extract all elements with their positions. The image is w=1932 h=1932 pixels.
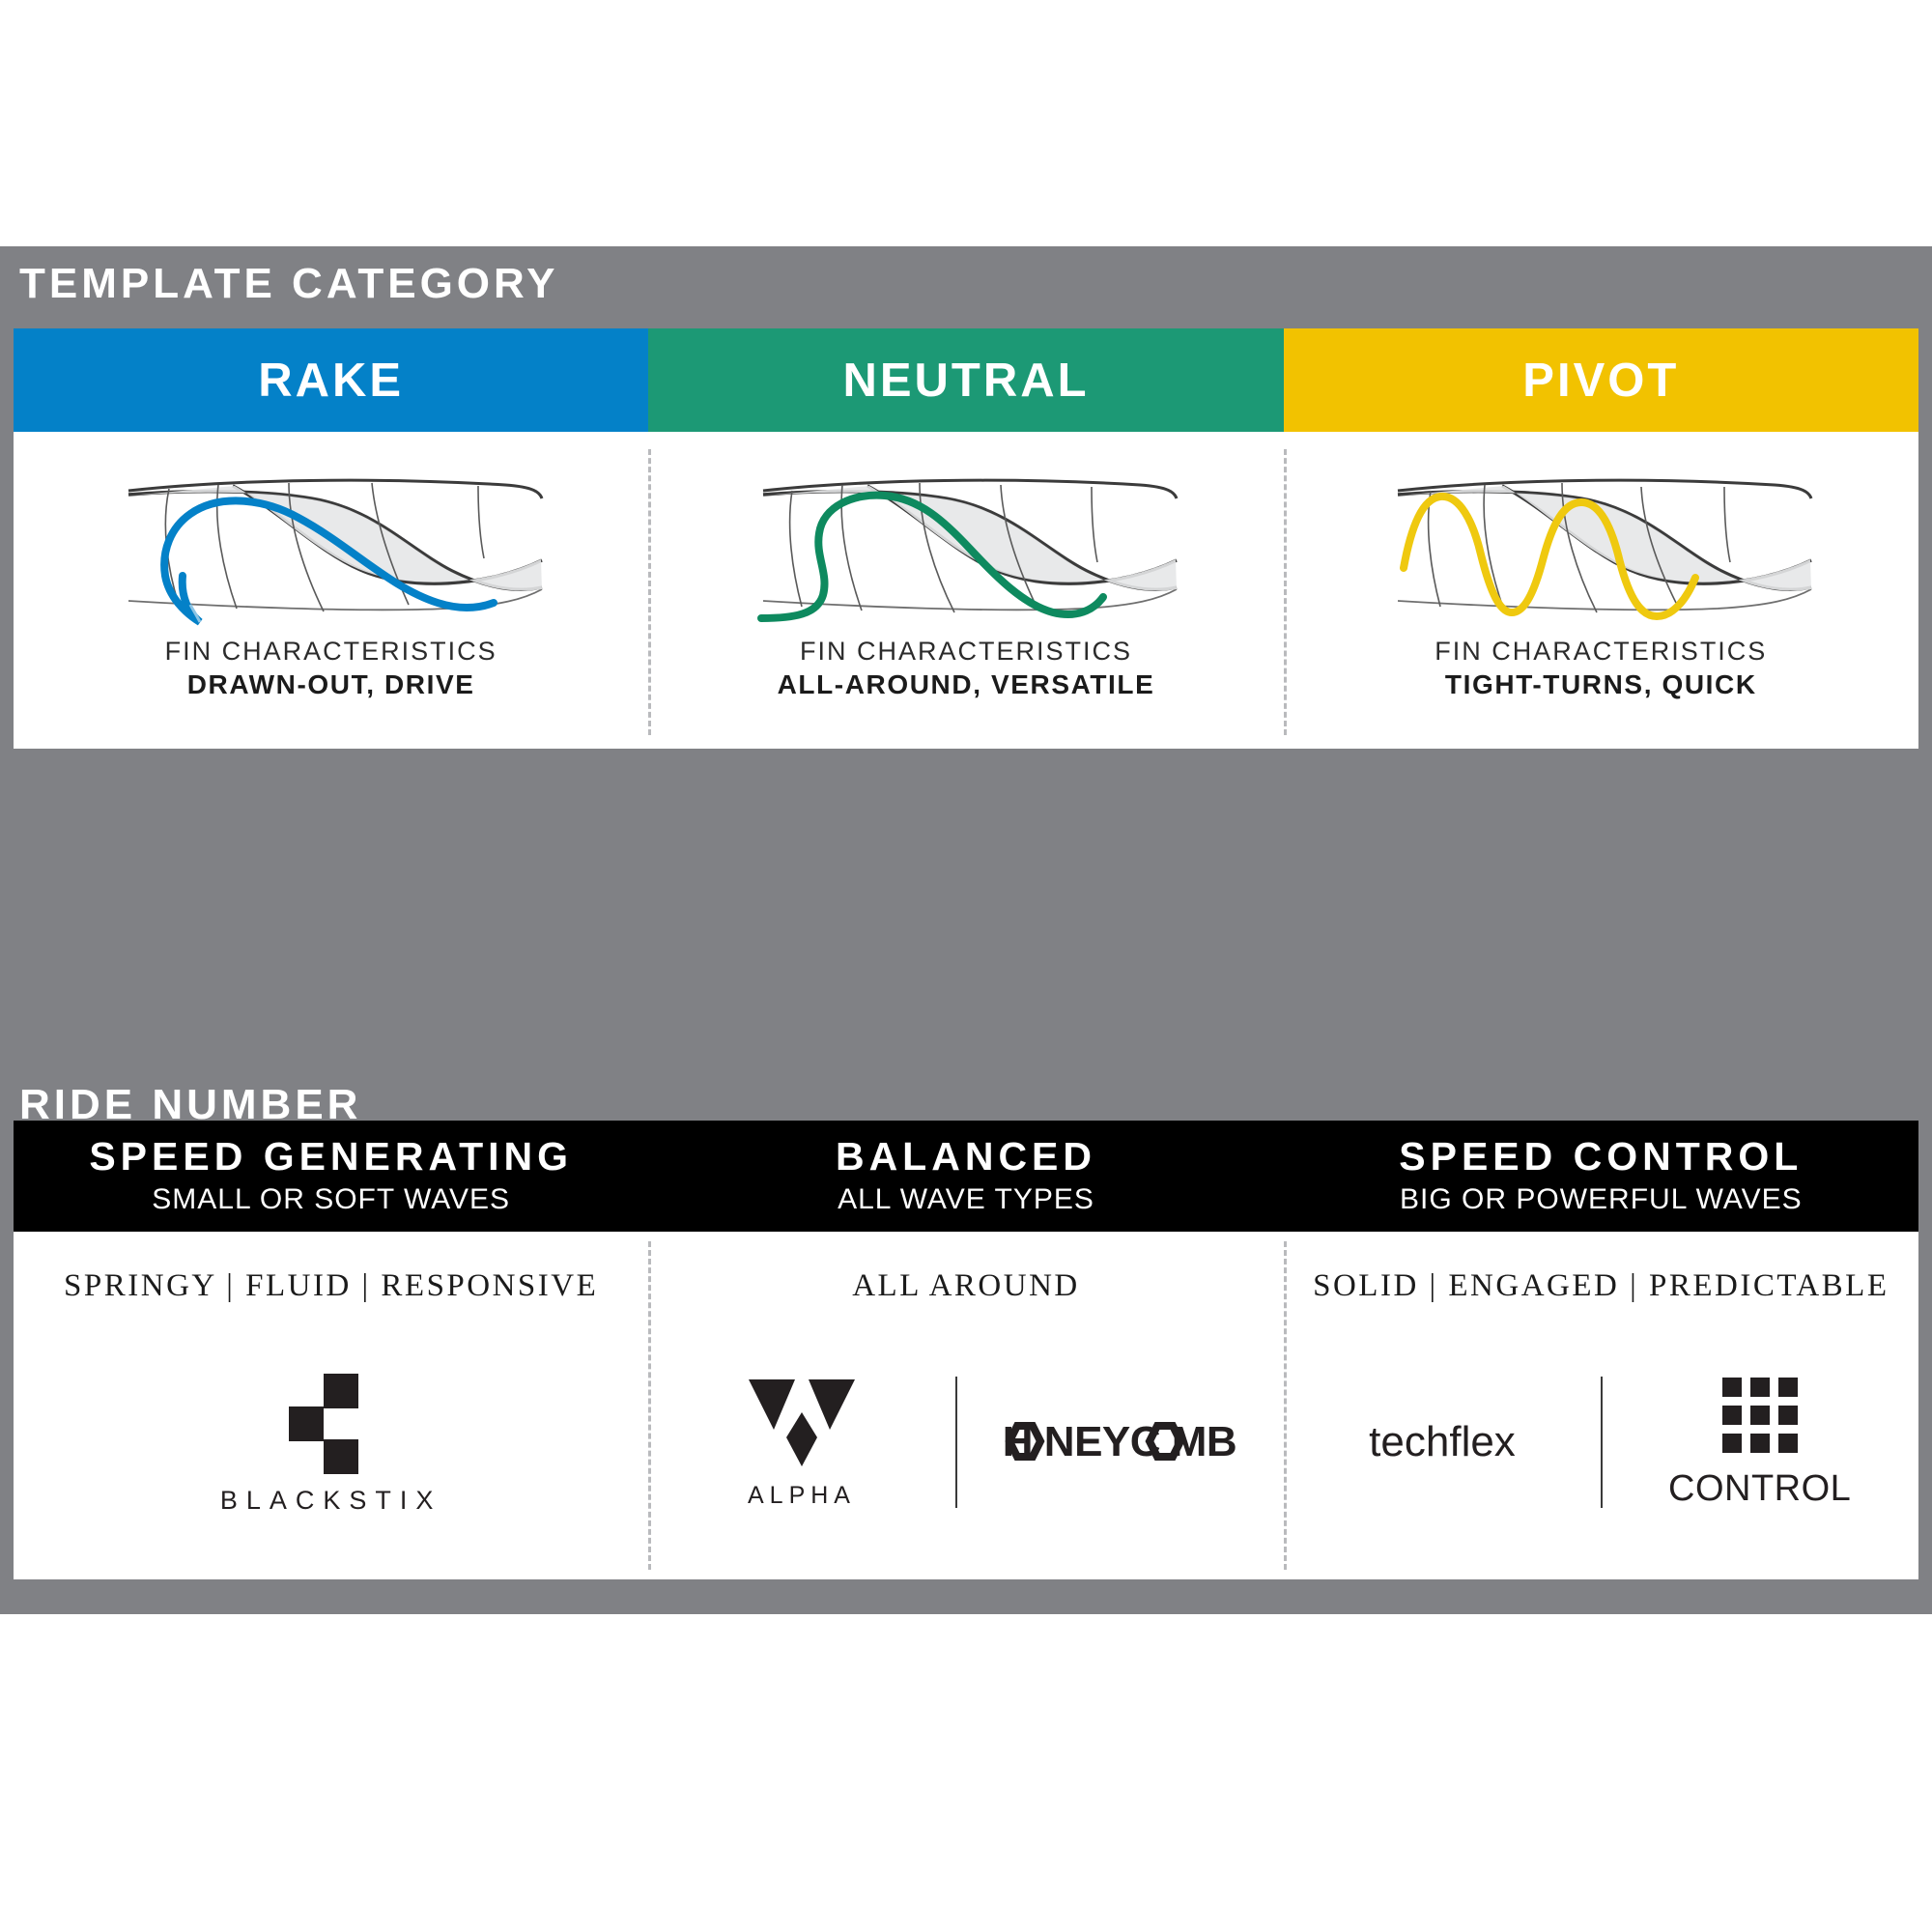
template-header-rake-label: RAKE	[258, 354, 404, 408]
ride-column-speed-generating: SPRINGY | FLUID | RESPONSIVE BLACKSTIX	[14, 1232, 648, 1579]
neutral-fin-characteristics-label: FIN CHARACTERISTICS	[778, 637, 1155, 667]
ride-number-card: SPEED GENERATING SMALL OR SOFT WAVES BAL…	[14, 1121, 1918, 1579]
neutral-fin-caption: FIN CHARACTERISTICS ALL-AROUND, VERSATIL…	[778, 637, 1155, 700]
rake-fin-diagram	[14, 438, 648, 631]
page-title-template-category: TEMPLATE CATEGORY	[19, 263, 559, 305]
logo-alpha-wordmark: ALPHA	[748, 1482, 856, 1510]
template-category-card: RAKE NEUTRAL PIVOT	[14, 328, 1918, 749]
logo-alpha[interactable]: ALPHA	[648, 1365, 954, 1520]
rake-fin-caption: FIN CHARACTERISTICS DRAWN-OUT, DRIVE	[165, 637, 497, 700]
ride-logos-speed-generating: BLACKSTIX	[14, 1304, 648, 1579]
template-column-rake: FIN CHARACTERISTICS DRAWN-OUT, DRIVE	[14, 432, 648, 749]
ride-logos-speed-control: techflex	[1284, 1304, 1918, 1579]
ride-attributes-balanced: ALL AROUND	[852, 1268, 1080, 1304]
ride-column-balanced: ALL AROUND ALPHA H NEYC MB	[648, 1232, 1283, 1579]
ride-column-speed-control: SOLID | ENGAGED | PREDICTABLE techflex	[1284, 1232, 1918, 1579]
template-header-neutral[interactable]: NEUTRAL	[648, 328, 1283, 432]
ride-header-speed-generating-sub: SMALL OR SOFT WAVES	[152, 1183, 510, 1216]
template-header-row: RAKE NEUTRAL PIVOT	[14, 328, 1918, 432]
honeycomb-wordmark-icon: H NEYC MB	[955, 1414, 1284, 1470]
ride-header-speed-generating[interactable]: SPEED GENERATING SMALL OR SOFT WAVES	[14, 1121, 648, 1232]
alpha-triangles-icon	[745, 1374, 859, 1470]
template-column-pivot: FIN CHARACTERISTICS TIGHT-TURNS, QUICK	[1284, 432, 1918, 749]
pivot-fin-characteristics-value: TIGHT-TURNS, QUICK	[1435, 669, 1767, 700]
ride-header-speed-control[interactable]: SPEED CONTROL BIG OR POWERFUL WAVES	[1284, 1121, 1918, 1232]
ride-header-bar: SPEED GENERATING SMALL OR SOFT WAVES BAL…	[14, 1121, 1918, 1232]
infographic-root: TEMPLATE CATEGORY RIDE NUMBER RAKE NEUTR…	[0, 0, 1932, 1932]
neutral-fin-characteristics-value: ALL-AROUND, VERSATILE	[778, 669, 1155, 700]
grid-nine-squares-icon	[1719, 1374, 1802, 1457]
logo-blackstix[interactable]: BLACKSTIX	[14, 1365, 648, 1520]
ride-header-balanced-title: BALANCED	[836, 1136, 1096, 1178]
ride-logos-balanced: ALPHA H NEYC MB	[648, 1304, 1283, 1579]
template-header-neutral-label: NEUTRAL	[842, 354, 1089, 408]
rake-fin-characteristics-label: FIN CHARACTERISTICS	[165, 637, 497, 667]
rake-fin-characteristics-value: DRAWN-OUT, DRIVE	[165, 669, 497, 700]
logo-control-wordmark: CONTROL	[1668, 1468, 1851, 1510]
pivot-fin-caption: FIN CHARACTERISTICS TIGHT-TURNS, QUICK	[1435, 637, 1767, 700]
stair-squares-icon	[278, 1368, 384, 1474]
logo-control[interactable]: CONTROL	[1601, 1365, 1918, 1520]
template-header-rake[interactable]: RAKE	[14, 328, 648, 432]
template-body-row: FIN CHARACTERISTICS DRAWN-OUT, DRIVE	[14, 432, 1918, 749]
ride-body-row: SPRINGY | FLUID | RESPONSIVE BLACKSTIX A…	[14, 1232, 1918, 1579]
ride-header-balanced[interactable]: BALANCED ALL WAVE TYPES	[648, 1121, 1283, 1232]
ride-header-speed-control-title: SPEED CONTROL	[1399, 1136, 1803, 1178]
ride-attributes-speed-control: SOLID | ENGAGED | PREDICTABLE	[1313, 1268, 1889, 1304]
ride-header-speed-control-sub: BIG OR POWERFUL WAVES	[1400, 1183, 1803, 1216]
ride-header-balanced-sub: ALL WAVE TYPES	[838, 1183, 1094, 1216]
logo-honeycomb[interactable]: H NEYC MB	[955, 1365, 1284, 1520]
logo-techflex-wordmark: techflex	[1369, 1418, 1516, 1466]
template-header-pivot-label: PIVOT	[1522, 354, 1679, 408]
template-header-pivot[interactable]: PIVOT	[1284, 328, 1918, 432]
mid-spacer-background	[0, 749, 1932, 1067]
logo-techflex[interactable]: techflex	[1284, 1365, 1602, 1520]
pivot-fin-characteristics-label: FIN CHARACTERISTICS	[1435, 637, 1767, 667]
ride-attributes-speed-generating: SPRINGY | FLUID | RESPONSIVE	[64, 1268, 598, 1304]
logo-blackstix-wordmark: BLACKSTIX	[220, 1486, 442, 1516]
template-column-neutral: FIN CHARACTERISTICS ALL-AROUND, VERSATIL…	[648, 432, 1283, 749]
neutral-fin-diagram	[648, 438, 1283, 631]
pivot-fin-diagram	[1284, 438, 1918, 631]
ride-header-speed-generating-title: SPEED GENERATING	[89, 1136, 573, 1178]
